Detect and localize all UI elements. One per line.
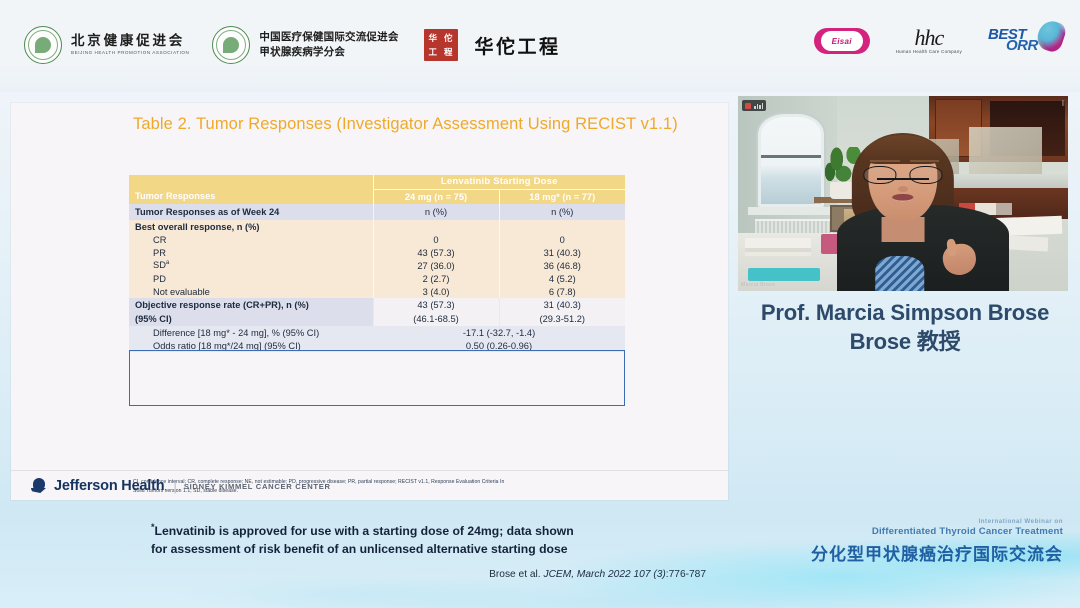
row-label: CR bbox=[129, 233, 373, 246]
jefferson-silhouette-icon bbox=[31, 477, 47, 495]
jefferson-wordmark: Jefferson Health. bbox=[54, 478, 166, 494]
table-section-row: Tumor Responses as of Week 24 n (%) n (%… bbox=[129, 204, 625, 220]
speaker-shirt bbox=[875, 256, 925, 291]
citation-journal: JCEM, March 2022 107 (3) bbox=[543, 569, 665, 580]
citation-prefix: Brose et al. bbox=[489, 569, 543, 580]
org-2-text: 中国医疗保健国际交流促进会 甲状腺疾病学分会 bbox=[259, 32, 398, 57]
row-value-1: 2 (2.7) bbox=[373, 272, 499, 285]
row-value-2: 36 (46.8) bbox=[499, 259, 625, 272]
hhc-logo: hhc Human Health Care Company bbox=[896, 28, 962, 55]
event-branding: International Webinar on Differentiated … bbox=[811, 518, 1063, 565]
row-value-1: 43 (57.3) bbox=[373, 246, 499, 259]
record-dot-icon bbox=[745, 103, 751, 109]
hhc-tagline: Human Health Care Company bbox=[896, 49, 962, 54]
table-col-header-24mg: 24 mg (n = 75) bbox=[373, 189, 499, 204]
video-corner-icon[interactable]: [] bbox=[1062, 100, 1064, 106]
video-participant-label: Marcia Brose bbox=[741, 282, 775, 288]
ci-row-value-2: (29.3-51.2) bbox=[499, 312, 625, 326]
table-col-header-18mg: 18 mg* (n = 77) bbox=[499, 189, 625, 204]
window-sill bbox=[748, 207, 834, 215]
window bbox=[758, 114, 824, 208]
hhc-wordmark: hhc bbox=[896, 28, 962, 48]
speaker-nose bbox=[898, 186, 908, 192]
speaker-name-line-1: Prof. Marcia Simpson Brose bbox=[730, 298, 1080, 327]
left-logo-group: 北京健康促进会 BEIJING HEALTH PROMOTION ASSOCIA… bbox=[24, 26, 561, 64]
best-orr-leaf-icon bbox=[1034, 18, 1068, 55]
odds-ratio-row-value: 0.50 (0.26-0.96) bbox=[373, 339, 625, 352]
logo-bar: 北京健康促进会 BEIJING HEALTH PROMOTION ASSOCIA… bbox=[0, 0, 1080, 92]
right-logo-group: Eisai hhc Human Health Care Company BEST… bbox=[814, 24, 1064, 58]
row-value-1: 0 bbox=[373, 233, 499, 246]
table-highlight-row: (95% CI) (46.1-68.5) (29.3-51.2) bbox=[129, 312, 625, 326]
green-seal-icon bbox=[212, 26, 250, 64]
table-row: Best overall response, n (%) bbox=[129, 220, 625, 233]
slide-footer-divider bbox=[11, 470, 728, 471]
speaker-name: Prof. Marcia Simpson Brose Brose 教授 bbox=[730, 298, 1080, 356]
eisai-wordmark: Eisai bbox=[821, 31, 863, 51]
table-group-header: Lenvatinib Starting Dose bbox=[373, 175, 625, 189]
section-row-value-1: n (%) bbox=[373, 204, 499, 220]
green-seal-icon bbox=[24, 26, 62, 64]
stamp-char-3: 工 bbox=[426, 46, 441, 60]
row-value-1: 3 (4.0) bbox=[373, 285, 499, 298]
orr-row-value-2: 31 (40.3) bbox=[499, 298, 625, 312]
org-3-name-cn: 华佗工程 bbox=[475, 32, 561, 59]
row-value-1 bbox=[373, 220, 499, 233]
org-1-name-en: BEIJING HEALTH PROMOTION ASSOCIATION bbox=[71, 51, 189, 56]
eyeglass-lens-left bbox=[863, 166, 896, 184]
cancer-center-label: SIDNEY KIMMEL CANCER CENTER bbox=[184, 482, 331, 491]
ci-row-label: (95% CI) bbox=[129, 312, 373, 326]
row-value-2: 4 (5.2) bbox=[499, 272, 625, 285]
row-label: PR bbox=[129, 246, 373, 259]
best-orr-logo: BEST ORR bbox=[988, 24, 1064, 58]
slide-title: Table 2. Tumor Responses (Investigator A… bbox=[133, 113, 693, 136]
odds-ratio-row-label: Odds ratio [18 mg*/24 mg] (95% CI) bbox=[129, 339, 373, 352]
table-row: CR 0 0 bbox=[129, 233, 625, 246]
speaker-eyebrow-left bbox=[870, 160, 900, 162]
presentation-slide[interactable]: Table 2. Tumor Responses (Investigator A… bbox=[11, 103, 728, 500]
stamp-char-1: 华 bbox=[426, 31, 441, 45]
stamp-char-4: 程 bbox=[441, 46, 456, 60]
event-title-cn: 分化型甲状腺癌治疗国际交流会 bbox=[811, 540, 1063, 565]
table-stat-row: Difference [18 mg* - 24 mg], % (95% CI) … bbox=[129, 326, 625, 339]
speaker-eyebrow-right bbox=[910, 160, 940, 162]
difference-row-label: Difference [18 mg* - 24 mg], % (95% CI) bbox=[129, 326, 373, 339]
difference-row-value: -17.1 (-32.7, -1.4) bbox=[373, 326, 625, 339]
teal-folder bbox=[748, 268, 821, 282]
org-2-name-cn-line1: 中国医疗保健国际交流促进会 bbox=[259, 32, 398, 43]
table-row: Not evaluable 3 (4.0) 6 (7.8) bbox=[129, 285, 625, 298]
table-row: SDa 27 (36.0) 36 (46.8) bbox=[129, 259, 625, 272]
asterisk-note-line-1: Lenvatinib is approved for use with a st… bbox=[155, 524, 574, 538]
org-2-name-cn-line2: 甲状腺疾病学分会 bbox=[259, 47, 398, 58]
row-value-2: 31 (40.3) bbox=[499, 246, 625, 259]
orr-row-value-1: 43 (57.3) bbox=[373, 298, 499, 312]
citation-suffix: :776-787 bbox=[666, 569, 706, 580]
ci-row-value-1: (46.1-68.5) bbox=[373, 312, 499, 326]
video-frame bbox=[738, 96, 1068, 291]
orr-row-label: Objective response rate (CR+PR), n (%) bbox=[129, 298, 373, 312]
table-stat-row: Odds ratio [18 mg*/24 mg] (95% CI) 0.50 … bbox=[129, 339, 625, 352]
table-header-group-row: Tumor Responses Lenvatinib Starting Dose bbox=[129, 175, 625, 189]
org-1-text: 北京健康促进会 BEIJING HEALTH PROMOTION ASSOCIA… bbox=[71, 34, 189, 56]
section-row-label: Tumor Responses as of Week 24 bbox=[129, 204, 373, 220]
paper-stack bbox=[745, 238, 811, 248]
speaker-video-panel[interactable]: [] Marcia Brose bbox=[738, 96, 1068, 291]
eyeglass-lens-right bbox=[909, 166, 942, 184]
row-value-1: 27 (36.0) bbox=[373, 259, 499, 272]
speaker-eyeglasses bbox=[863, 166, 942, 184]
table-highlight-row: Objective response rate (CR+PR), n (%) 4… bbox=[129, 298, 625, 312]
row-value-2: 0 bbox=[499, 233, 625, 246]
stamp-char-2: 佗 bbox=[441, 31, 456, 45]
asterisk-note: *Lenvatinib is approved for use with a s… bbox=[151, 521, 651, 559]
row-label: Best overall response, n (%) bbox=[129, 220, 373, 233]
table-row: PR 43 (57.3) 31 (40.3) bbox=[129, 246, 625, 259]
table-row-label-header: Tumor Responses bbox=[129, 175, 373, 204]
jefferson-health-logo: Jefferson Health. | SIDNEY KIMMEL CANCER… bbox=[31, 477, 331, 495]
row-value-2 bbox=[499, 220, 625, 233]
row-label: PD bbox=[129, 272, 373, 285]
event-title-en: Differentiated Thyroid Cancer Treatment bbox=[811, 526, 1063, 537]
orr-highlight-box bbox=[129, 350, 625, 406]
section-row-value-2: n (%) bbox=[499, 204, 625, 220]
event-subtitle-en: International Webinar on bbox=[811, 518, 1063, 525]
footer-divider-pipe: | bbox=[173, 479, 176, 494]
red-stamp-icon: 华 佗 工 程 bbox=[424, 29, 458, 61]
row-label: Not evaluable bbox=[129, 285, 373, 298]
tumor-responses-table: Tumor Responses Lenvatinib Starting Dose… bbox=[129, 175, 625, 352]
eisai-logo: Eisai bbox=[814, 28, 870, 54]
asterisk-note-line-2: for assessment of risk benefit of an unl… bbox=[151, 542, 568, 556]
row-value-2: 6 (7.8) bbox=[499, 285, 625, 298]
eyeglass-bridge bbox=[877, 178, 930, 180]
speaker-mouth bbox=[892, 194, 913, 202]
recording-indicator[interactable] bbox=[742, 100, 766, 111]
row-label: SDa bbox=[129, 259, 373, 272]
citation: Brose et al. JCEM, March 2022 107 (3):77… bbox=[489, 569, 706, 580]
org-1-name-cn: 北京健康促进会 bbox=[71, 34, 189, 48]
speaker-name-line-2: Brose 教授 bbox=[730, 327, 1080, 356]
table-row: PD 2 (2.7) 4 (5.2) bbox=[129, 272, 625, 285]
best-orr-word-2: ORR bbox=[1006, 37, 1038, 54]
audio-level-icon bbox=[754, 103, 763, 109]
